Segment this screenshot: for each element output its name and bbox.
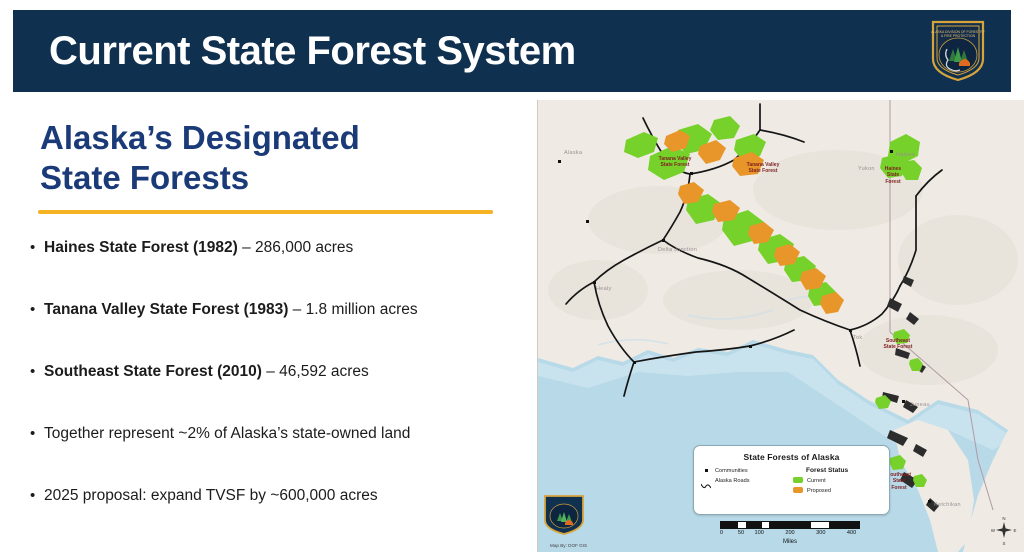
map-credit: Map By: DOF GIS [550, 543, 587, 548]
alaska-forestry-badge-icon [542, 494, 586, 536]
svg-text:W: W [991, 528, 996, 533]
list-item-text: 2025 proposal: expand TVSF by ~600,000 a… [44, 486, 378, 506]
scale-bar-units: Miles [720, 539, 860, 545]
list-item: • Tanana Valley State Forest (1983) – 1.… [30, 300, 530, 320]
legend-item-proposed: Proposed [793, 487, 882, 494]
list-item-rest: – 46,592 acres [262, 363, 369, 380]
forest-label-southeast-north: Southeast State Forest [874, 338, 922, 351]
map-label-healy: Healy [596, 286, 612, 292]
scale-bar-graphic [720, 521, 860, 529]
bullet-marker: • [30, 362, 44, 382]
alaska-forest-map: Alaska Yukon Delta Junction Tok Healy Ha… [537, 100, 1024, 552]
page-title: Current State Forest System [49, 29, 576, 74]
legend-item-communities: Communities [701, 467, 793, 474]
svg-text:& FIRE PROTECTION: & FIRE PROTECTION [941, 34, 976, 38]
subtitle-line-2: State Forests [40, 158, 510, 198]
map-label-delta-junction: Delta Junction [658, 247, 697, 253]
bullet-marker: • [30, 486, 44, 506]
section-subtitle: Alaska’s Designated State Forests [40, 118, 510, 199]
alaska-forestry-badge-icon: ALASKA DIVISION OF FORESTRY & FIRE PROTE… [929, 19, 987, 83]
list-item: • 2025 proposal: expand TVSF by ~600,000… [30, 486, 530, 506]
svg-text:S: S [1003, 541, 1006, 546]
slide-header: Current State Forest System ALASKA DIVIS… [13, 10, 1011, 92]
map-label-alaska: Alaska [564, 150, 582, 156]
svg-text:E: E [1014, 528, 1017, 533]
bullet-list: • Haines State Forest (1982) – 286,000 a… [30, 238, 530, 506]
list-item-bold: Southeast State Forest (2010) [44, 363, 262, 380]
map-label-tok: Tok [853, 335, 862, 341]
map-label-yukon: Yukon [858, 166, 875, 172]
road-line-icon [701, 477, 711, 484]
map-label-ketchikan: Ketchikan [934, 502, 961, 508]
bullet-marker: • [30, 424, 44, 444]
legend-title: State Forests of Alaska [694, 452, 889, 462]
list-item-text: Haines State Forest (1982) – 286,000 acr… [44, 238, 353, 258]
forest-label-tanana-valley-west: Tanana Valley State Forest [650, 156, 700, 169]
city-dot [662, 239, 665, 242]
list-item-text: Southeast State Forest (2010) – 46,592 a… [44, 362, 369, 382]
map-scale-bar: 0 50 100 200 300 400 Miles [720, 521, 860, 545]
list-item-text: Together represent ~2% of Alaska’s state… [44, 424, 410, 444]
forest-current-swatch-icon [793, 477, 803, 484]
list-item-bold: Haines State Forest (1982) [44, 239, 238, 256]
map-label-juneau: Juneau [910, 402, 930, 408]
list-item-rest: Together represent ~2% of Alaska’s state… [44, 425, 410, 442]
city-dot [690, 172, 693, 175]
list-item: • Haines State Forest (1982) – 286,000 a… [30, 238, 530, 258]
forest-label-haines: Haines State Forest [876, 166, 910, 185]
legend-item-roads: Alaska Roads [701, 477, 793, 484]
city-dot [633, 361, 636, 364]
bullet-marker: • [30, 300, 44, 320]
list-item-rest: – 1.8 million acres [288, 301, 417, 318]
city-dot [849, 329, 852, 332]
city-dot [902, 400, 905, 403]
list-item-text: Tanana Valley State Forest (1983) – 1.8 … [44, 300, 418, 320]
compass-rose-icon: N S E W [991, 514, 1017, 546]
svg-text:N: N [1002, 516, 1005, 521]
forest-proposed-swatch-icon [793, 487, 803, 494]
city-dot [586, 220, 589, 223]
legend-basemap-group: Communities Alaska Roads [701, 467, 793, 497]
subtitle-line-1: Alaska’s Designated [40, 118, 510, 158]
communities-icon [701, 467, 711, 474]
list-item-rest: – 286,000 acres [238, 239, 353, 256]
city-dot [558, 160, 561, 163]
list-item: • Together represent ~2% of Alaska’s sta… [30, 424, 530, 444]
legend-status-group: Forest Status Current Proposed [793, 467, 882, 497]
list-item-bold: Tanana Valley State Forest (1983) [44, 301, 288, 318]
forest-label-tanana-valley-east: Tanana Valley State Forest [738, 162, 788, 175]
list-item-rest: 2025 proposal: expand TVSF by ~600,000 a… [44, 487, 378, 504]
scale-bar-ticks: 0 50 100 200 300 400 [720, 530, 860, 539]
city-dot [593, 281, 596, 284]
list-item: • Southeast State Forest (2010) – 46,592… [30, 362, 530, 382]
legend-status-title: Forest Status [806, 467, 882, 474]
city-dot [890, 150, 893, 153]
legend-item-current: Current [793, 477, 882, 484]
gold-divider [38, 210, 493, 214]
map-label-haines: Haines [896, 152, 915, 158]
bullet-marker: • [30, 238, 44, 258]
city-dot [928, 500, 931, 503]
city-dot [749, 345, 752, 348]
map-legend: State Forests of Alaska Communities [693, 445, 890, 515]
